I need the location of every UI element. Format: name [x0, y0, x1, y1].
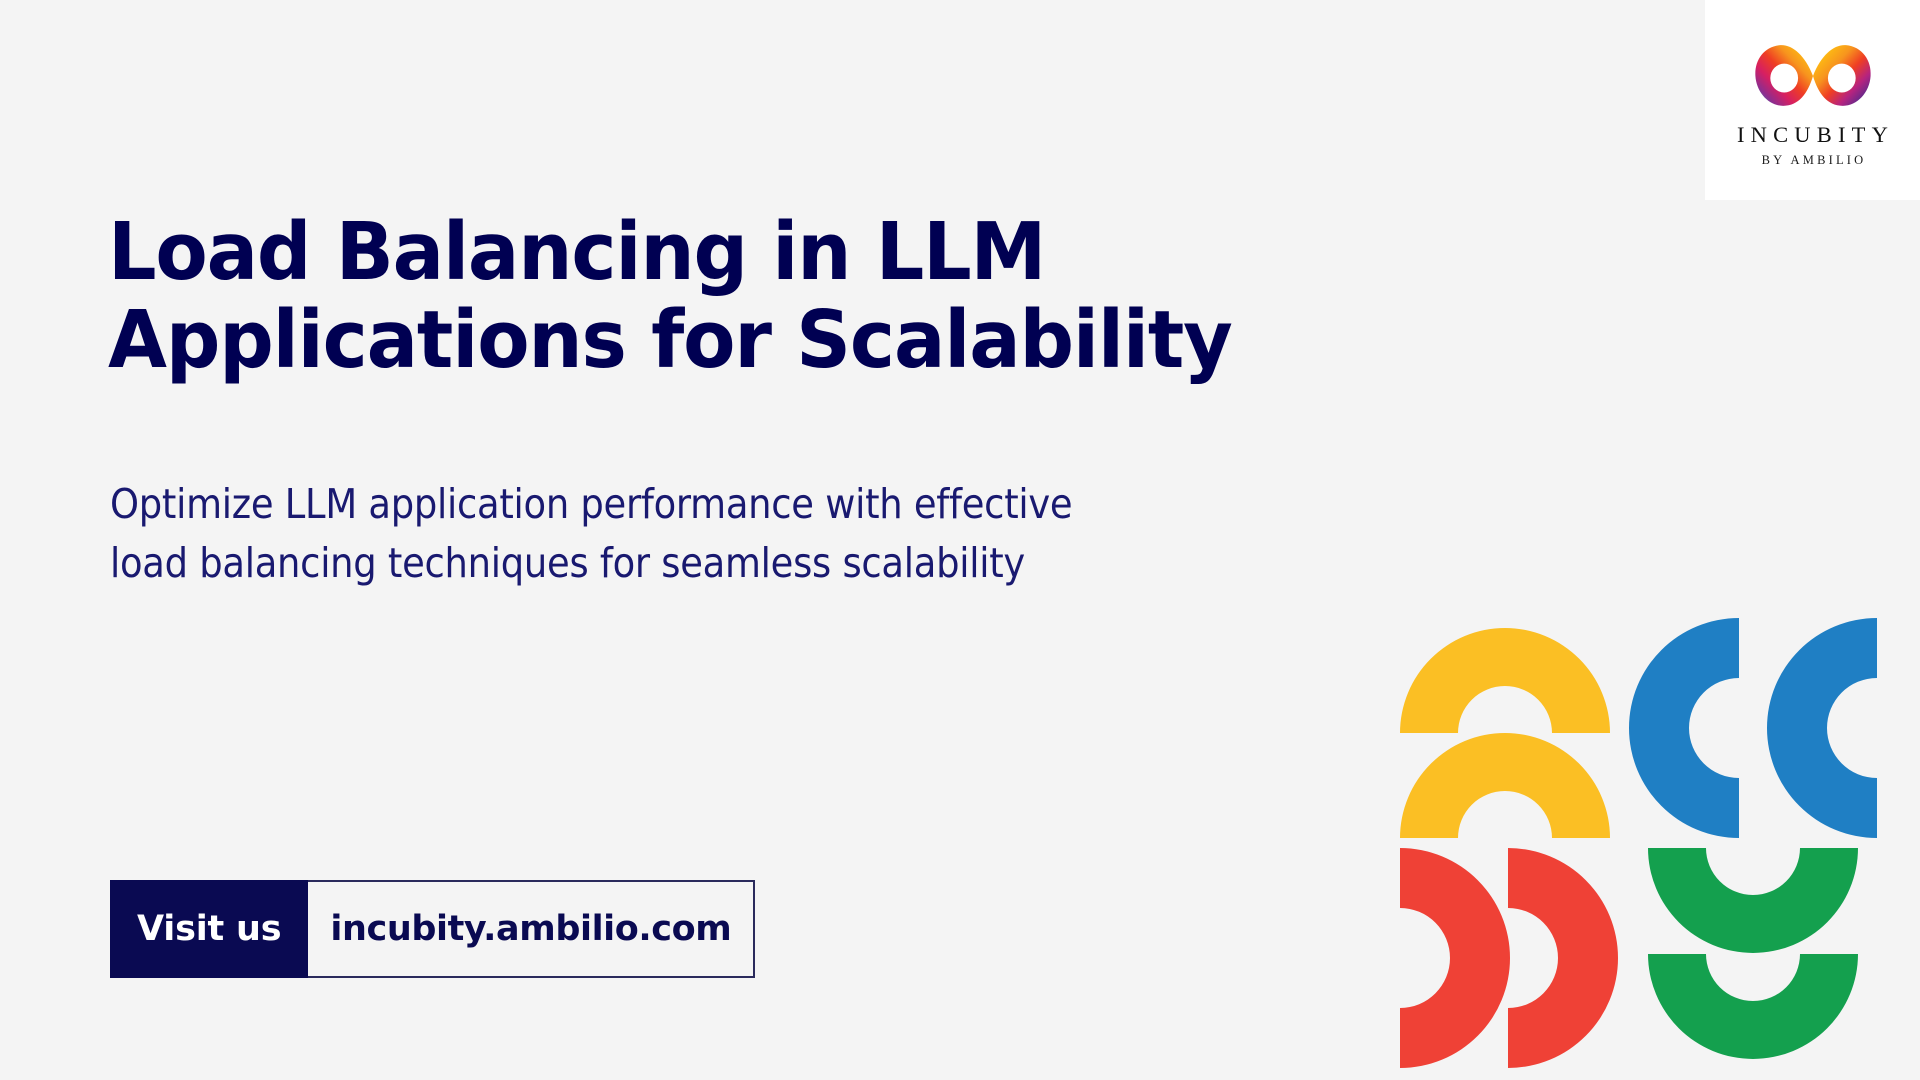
brand-name: INCUBITY — [1731, 124, 1894, 147]
brand-tagline: BY AMBILIO — [1759, 154, 1867, 167]
page-subtitle: Optimize LLM application performance wit… — [110, 475, 1190, 594]
website-url[interactable]: incubity.ambilio.com — [308, 880, 755, 978]
banner-root: INCUBITY BY AMBILIO Load Balancing in LL… — [0, 0, 1920, 1080]
visit-us-label: Visit us — [110, 880, 308, 978]
arc-pattern-decoration — [1390, 598, 1890, 1080]
arc-quadrant-blue — [1629, 618, 1877, 838]
visit-us-cta[interactable]: Visit us incubity.ambilio.com — [110, 880, 755, 978]
arc-quadrant-red — [1400, 848, 1618, 1068]
arc-quadrant-yellow — [1400, 628, 1610, 838]
page-title: Load Balancing in LLM Applications for S… — [108, 208, 1314, 385]
arc-quadrant-green — [1648, 848, 1858, 1059]
infinity-gradient-icon — [1751, 40, 1875, 112]
brand-logo-card: INCUBITY BY AMBILIO — [1705, 0, 1920, 200]
